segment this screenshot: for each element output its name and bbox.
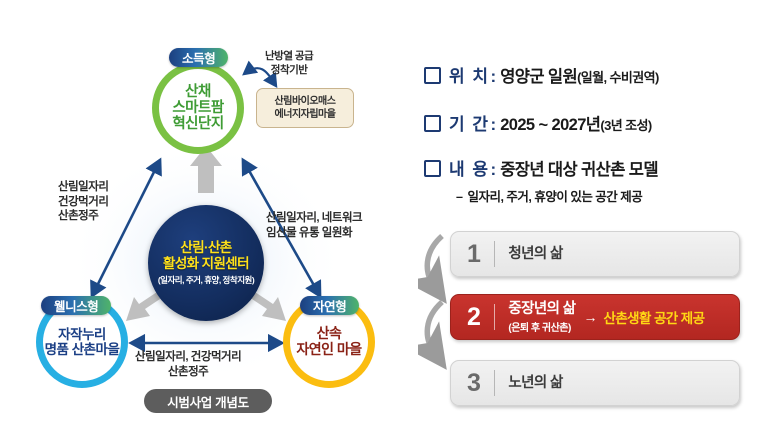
node-nature-line2: 자연인 마을 bbox=[296, 342, 361, 358]
hub-subtitle: (일자리, 주거, 휴양, 정착지원) bbox=[158, 274, 254, 286]
checkbox-icon bbox=[424, 160, 441, 177]
concept-diagram: 산림·산촌 활성화 지원센터 (일자리, 주거, 휴양, 정착지원) 산채 스마… bbox=[0, 0, 410, 426]
infographic-root: 산림·산촌 활성화 지원센터 (일자리, 주거, 휴양, 정착지원) 산채 스마… bbox=[0, 0, 780, 426]
arrow-stage1-to-2 bbox=[427, 236, 442, 286]
node-nature-line1: 산속 bbox=[296, 326, 361, 342]
edge-label-right-line1: 산림일자리, 네트워크 bbox=[266, 211, 362, 226]
node-nature-label: 산속 자연인 마을 bbox=[296, 326, 361, 357]
bullet-period: 기 간 : 2025 ~ 2027년 (3년 조성) bbox=[424, 110, 652, 135]
stage-divider bbox=[494, 241, 496, 267]
edge-label-left-line1: 산림일자리 bbox=[58, 180, 108, 195]
heat-supply-note: 난방열 공급 정착기반 bbox=[265, 50, 313, 77]
edge-label-left-line3: 산촌정주 bbox=[58, 209, 108, 224]
hub-title-line1: 산림·산촌 bbox=[180, 240, 231, 256]
checkbox-icon bbox=[424, 67, 441, 84]
right-arrow-icon: → bbox=[584, 309, 598, 325]
bullet-location-value: 영양군 일원 bbox=[500, 63, 577, 87]
badge-wellness-type: 웰니스형 bbox=[41, 296, 111, 315]
node-wellness-line1: 자작누리 bbox=[45, 327, 120, 342]
node-income-line1: 산채 bbox=[172, 84, 223, 100]
badge-nature-type: 자연형 bbox=[300, 296, 359, 315]
bullet-period-value-note: (3년 조성) bbox=[600, 115, 651, 134]
node-income-label: 산채 스마트팜 혁신단지 bbox=[172, 84, 223, 133]
bullet-content-colon: : bbox=[491, 160, 497, 180]
dash-glyph: – bbox=[456, 190, 462, 204]
edge-label-bottom-line1: 산림일자리, 건강먹거리 bbox=[135, 350, 241, 365]
stage-2-note: (은퇴 후 귀산촌) bbox=[508, 319, 575, 334]
edge-label-left: 산림일자리 건강먹거리 산촌정주 bbox=[58, 180, 108, 224]
bullet-location: 위 치 : 영양군 일원 (일월, 수비권역) bbox=[424, 62, 659, 87]
heat-note-line1: 난방열 공급 bbox=[265, 50, 313, 64]
bullet-content-key: 내 용 bbox=[449, 155, 490, 180]
stage-divider bbox=[494, 370, 496, 396]
stage-1-number: 1 bbox=[467, 242, 481, 267]
badge-income-type: 소득형 bbox=[169, 48, 228, 67]
bullet-location-value-note: (일월, 수비권역) bbox=[577, 67, 659, 86]
stage-3-label: 노년의 삶 bbox=[508, 375, 562, 392]
info-panel: 위 치 : 영양군 일원 (일월, 수비권역) 기 간 : 2025 ~ 202… bbox=[418, 0, 780, 426]
node-income-line3: 혁신단지 bbox=[172, 116, 223, 132]
stage-1-label: 청년의 삶 bbox=[508, 246, 562, 263]
bullet-location-colon: : bbox=[491, 67, 497, 87]
edge-label-bottom-line2: 산촌정주 bbox=[135, 365, 241, 380]
bullet-content-subnote: –일자리, 주거, 휴양이 있는 공간 제공 bbox=[456, 186, 642, 205]
edge-label-right-line2: 임산물 유통 일원화 bbox=[266, 226, 362, 241]
heat-note-line2: 정착기반 bbox=[265, 64, 313, 78]
bullet-content-value: 중장년 대상 귀산촌 모델 bbox=[500, 156, 658, 180]
biomass-village-box: 산림바이오매스 에너지자립마을 bbox=[256, 88, 354, 128]
stage-row-2[interactable]: 2 중장년의 삶 (은퇴 후 귀산촌) → 산촌생활 공간 제공 bbox=[450, 294, 740, 340]
stage-2-number: 2 bbox=[467, 305, 481, 330]
bullet-content: 내 용 : 중장년 대상 귀산촌 모델 bbox=[424, 155, 658, 180]
bullet-period-value: 2025 ~ 2027년 bbox=[500, 111, 600, 135]
bullet-period-key: 기 간 bbox=[449, 110, 490, 135]
stage-2-emphasis: 산촌생활 공간 제공 bbox=[604, 307, 705, 327]
hub-title-line2: 활성화 지원센터 bbox=[163, 256, 249, 272]
stage-2-label: 중장년의 삶 bbox=[508, 301, 575, 317]
stage-3-number: 3 bbox=[467, 371, 481, 396]
edge-label-bottom: 산림일자리, 건강먹거리 산촌정주 bbox=[135, 350, 241, 379]
stage-1-body: 청년의 삶 bbox=[508, 246, 562, 263]
stage-3-body: 노년의 삶 bbox=[508, 375, 562, 392]
edge-label-left-line2: 건강먹거리 bbox=[58, 195, 108, 210]
stage-row-3[interactable]: 3 노년의 삶 bbox=[450, 360, 740, 406]
bullet-location-key: 위 치 bbox=[449, 62, 490, 87]
biomass-line2: 에너지자립마을 bbox=[275, 108, 336, 121]
node-income-type[interactable]: 산채 스마트팜 혁신단지 bbox=[152, 62, 244, 154]
biomass-line1: 산림바이오매스 bbox=[275, 95, 336, 108]
bullet-period-colon: : bbox=[491, 115, 497, 135]
center-hub: 산림·산촌 활성화 지원센터 (일자리, 주거, 휴양, 정착지원) bbox=[148, 205, 264, 321]
stage-row-1[interactable]: 1 청년의 삶 bbox=[450, 231, 740, 277]
node-wellness-label: 자작누리 명품 산촌마을 bbox=[45, 327, 120, 357]
subnote-text: 일자리, 주거, 휴양이 있는 공간 제공 bbox=[467, 190, 642, 204]
checkbox-icon bbox=[424, 115, 441, 132]
stage-divider bbox=[494, 304, 496, 330]
arrow-stage2-to-3 bbox=[427, 302, 442, 352]
diagram-caption: 시범사업 개념도 bbox=[144, 389, 272, 413]
stage-2-body: 중장년의 삶 (은퇴 후 귀산촌) → 산촌생활 공간 제공 bbox=[508, 300, 704, 334]
node-wellness-line2: 명품 산촌마을 bbox=[45, 342, 120, 357]
edge-label-right: 산림일자리, 네트워크 임산물 유통 일원화 bbox=[266, 211, 362, 240]
node-income-line2: 스마트팜 bbox=[172, 100, 223, 116]
